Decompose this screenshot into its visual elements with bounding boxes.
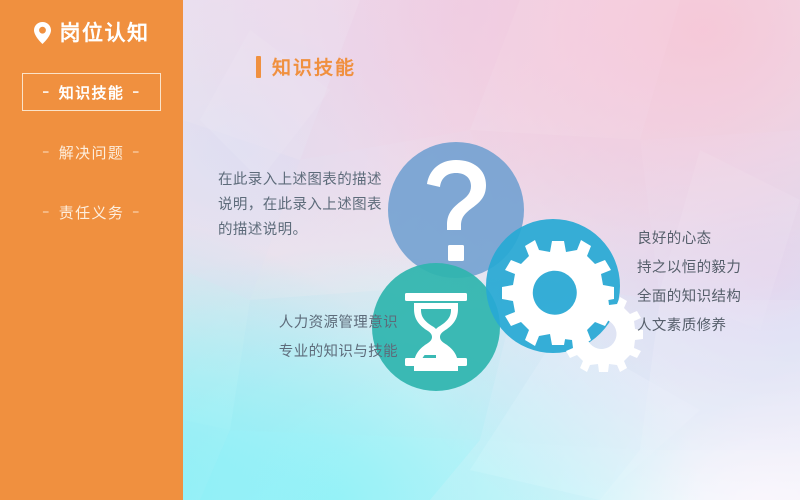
dash-left: – (42, 204, 50, 220)
description-text: 在此录入上述图表的描述说明，在此录入上述图表的描述说明。 (218, 168, 393, 243)
right-tag-item: 人文素质修养 (637, 312, 741, 341)
left-tag-item: 人力资源管理意识 (213, 309, 398, 338)
dash-right: – (132, 84, 140, 100)
right-tag-list: 良好的心态 持之以恒的毅力 全面的知识结构 人文素质修养 (637, 225, 741, 341)
page-title: 知识技能 (256, 53, 356, 80)
slide-canvas: 知识技能 在此录入上述图表的描述说明，在此录入上述图表的描述说明。 人力资源管理… (0, 0, 800, 500)
right-tag-item: 全面的知识结构 (637, 283, 741, 312)
right-tag-item: 良好的心态 (637, 225, 741, 254)
dash-right: – (132, 144, 140, 160)
sidebar-item-label: 知识技能 (59, 82, 125, 103)
sidebar-item-label: 责任义务 (59, 202, 125, 223)
sidebar-header: 岗位认知 (0, 22, 183, 44)
left-tag-item: 专业的知识与技能 (213, 338, 398, 367)
sidebar-item-solve-problems[interactable]: – 解决问题 – (22, 133, 161, 171)
title-accent-bar (256, 56, 261, 78)
right-tag-item: 持之以恒的毅力 (637, 254, 741, 283)
sidebar-menu: – 知识技能 – – 解决问题 – – 责任义务 – (0, 73, 183, 231)
sidebar-title: 岗位认知 (60, 23, 150, 44)
dash-left: – (42, 144, 50, 160)
sidebar-item-responsibilities[interactable]: – 责任义务 – (22, 193, 161, 231)
dash-left: – (42, 84, 50, 100)
dash-right: – (132, 204, 140, 220)
location-pin-icon (34, 22, 51, 44)
main-content: 知识技能 在此录入上述图表的描述说明，在此录入上述图表的描述说明。 人力资源管理… (183, 0, 800, 500)
left-tag-list: 人力资源管理意识 专业的知识与技能 (213, 309, 398, 367)
sidebar: 岗位认知 – 知识技能 – – 解决问题 – – 责任义务 – (0, 0, 183, 500)
page-title-text: 知识技能 (272, 53, 356, 80)
sidebar-item-label: 解决问题 (59, 142, 125, 163)
sidebar-item-knowledge-skills[interactable]: – 知识技能 – (22, 73, 161, 111)
